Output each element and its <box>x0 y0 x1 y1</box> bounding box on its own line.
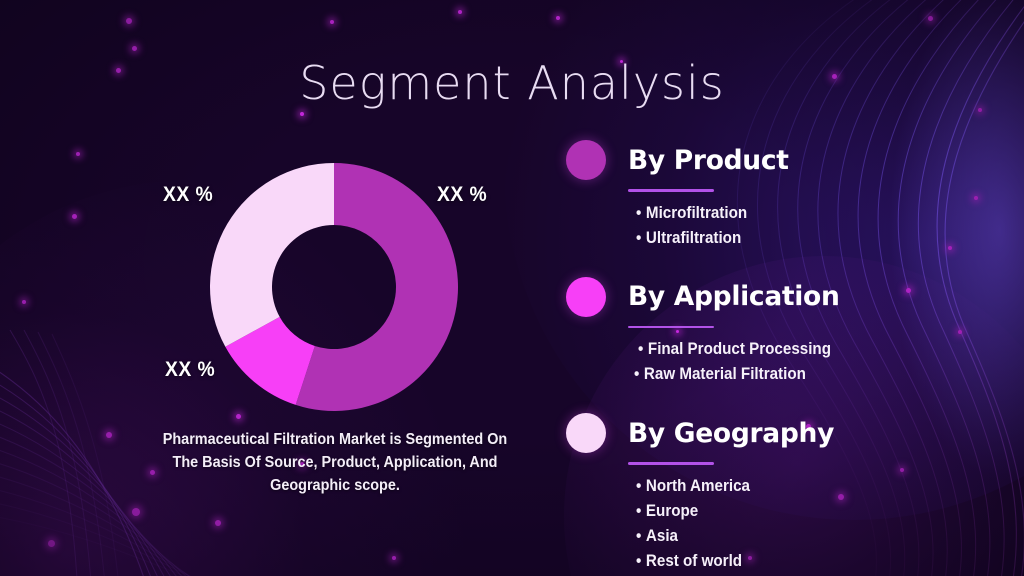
segment-rule-by-application <box>628 326 714 329</box>
list-item: •Raw Material Filtration <box>634 362 958 387</box>
donut-chart-svg <box>210 163 458 411</box>
bullet-icon: • <box>636 204 641 222</box>
segment-group-by-geography: By Geography •North America •Europe •Asi… <box>566 413 986 574</box>
segment-legend-panel: By Product •Microfiltration •Ultrafiltra… <box>566 140 986 576</box>
donut-slice-by-geography <box>210 163 334 347</box>
segment-title-by-geography: By Geography <box>628 418 834 449</box>
bullet-icon: • <box>634 365 639 383</box>
segment-title-by-product: By Product <box>628 145 789 176</box>
segment-items-by-application: •Final Product Processing •Raw Material … <box>634 337 986 387</box>
segment-rule-by-geography <box>628 462 714 465</box>
list-item-label: Microfiltration <box>646 204 747 222</box>
donut-label-left-bottom: XX % <box>165 358 215 382</box>
segment-items-by-geography: •North America •Europe •Asia •Rest of wo… <box>636 474 986 574</box>
chart-caption: Pharmaceutical Filtration Market is Segm… <box>154 429 517 498</box>
bullet-icon: • <box>636 477 641 495</box>
list-item-label: Rest of world <box>646 552 742 570</box>
segment-items-by-product: •Microfiltration •Ultrafiltration <box>636 201 986 251</box>
bullet-icon: • <box>636 552 641 570</box>
list-item: •Asia <box>636 524 958 549</box>
list-item: •North America <box>636 474 958 499</box>
segment-group-by-application: By Application •Final Product Processing… <box>566 277 986 388</box>
segment-group-header: By Geography <box>566 413 986 453</box>
segment-title-by-application: By Application <box>628 281 840 312</box>
list-item-label: Ultrafiltration <box>646 229 741 247</box>
list-item: •Rest of world <box>636 549 958 574</box>
list-item: •Microfiltration <box>636 201 958 226</box>
bullet-icon: • <box>638 340 643 358</box>
legend-dot-by-geography <box>566 413 606 453</box>
list-item: •Ultrafiltration <box>636 226 958 251</box>
page-title: Segment Analysis <box>0 56 1024 110</box>
list-item-label: Asia <box>646 527 678 545</box>
list-item: •Final Product Processing <box>638 337 958 362</box>
segment-group-by-product: By Product •Microfiltration •Ultrafiltra… <box>566 140 986 251</box>
list-item-label: Europe <box>646 502 698 520</box>
legend-dot-by-application <box>566 277 606 317</box>
list-item-label: Raw Material Filtration <box>644 365 806 383</box>
segment-rule-by-product <box>628 189 714 192</box>
list-item-label: Final Product Processing <box>648 340 831 358</box>
list-item: •Europe <box>636 499 958 524</box>
donut-label-right: XX % <box>437 183 487 207</box>
bullet-icon: • <box>636 502 641 520</box>
bullet-icon: • <box>636 527 641 545</box>
legend-dot-by-product <box>566 140 606 180</box>
donut-chart <box>210 163 458 411</box>
donut-label-left-top: XX % <box>163 183 213 207</box>
list-item-label: North America <box>646 477 750 495</box>
segment-group-header: By Application <box>566 277 986 317</box>
segment-group-header: By Product <box>566 140 986 180</box>
bullet-icon: • <box>636 229 641 247</box>
